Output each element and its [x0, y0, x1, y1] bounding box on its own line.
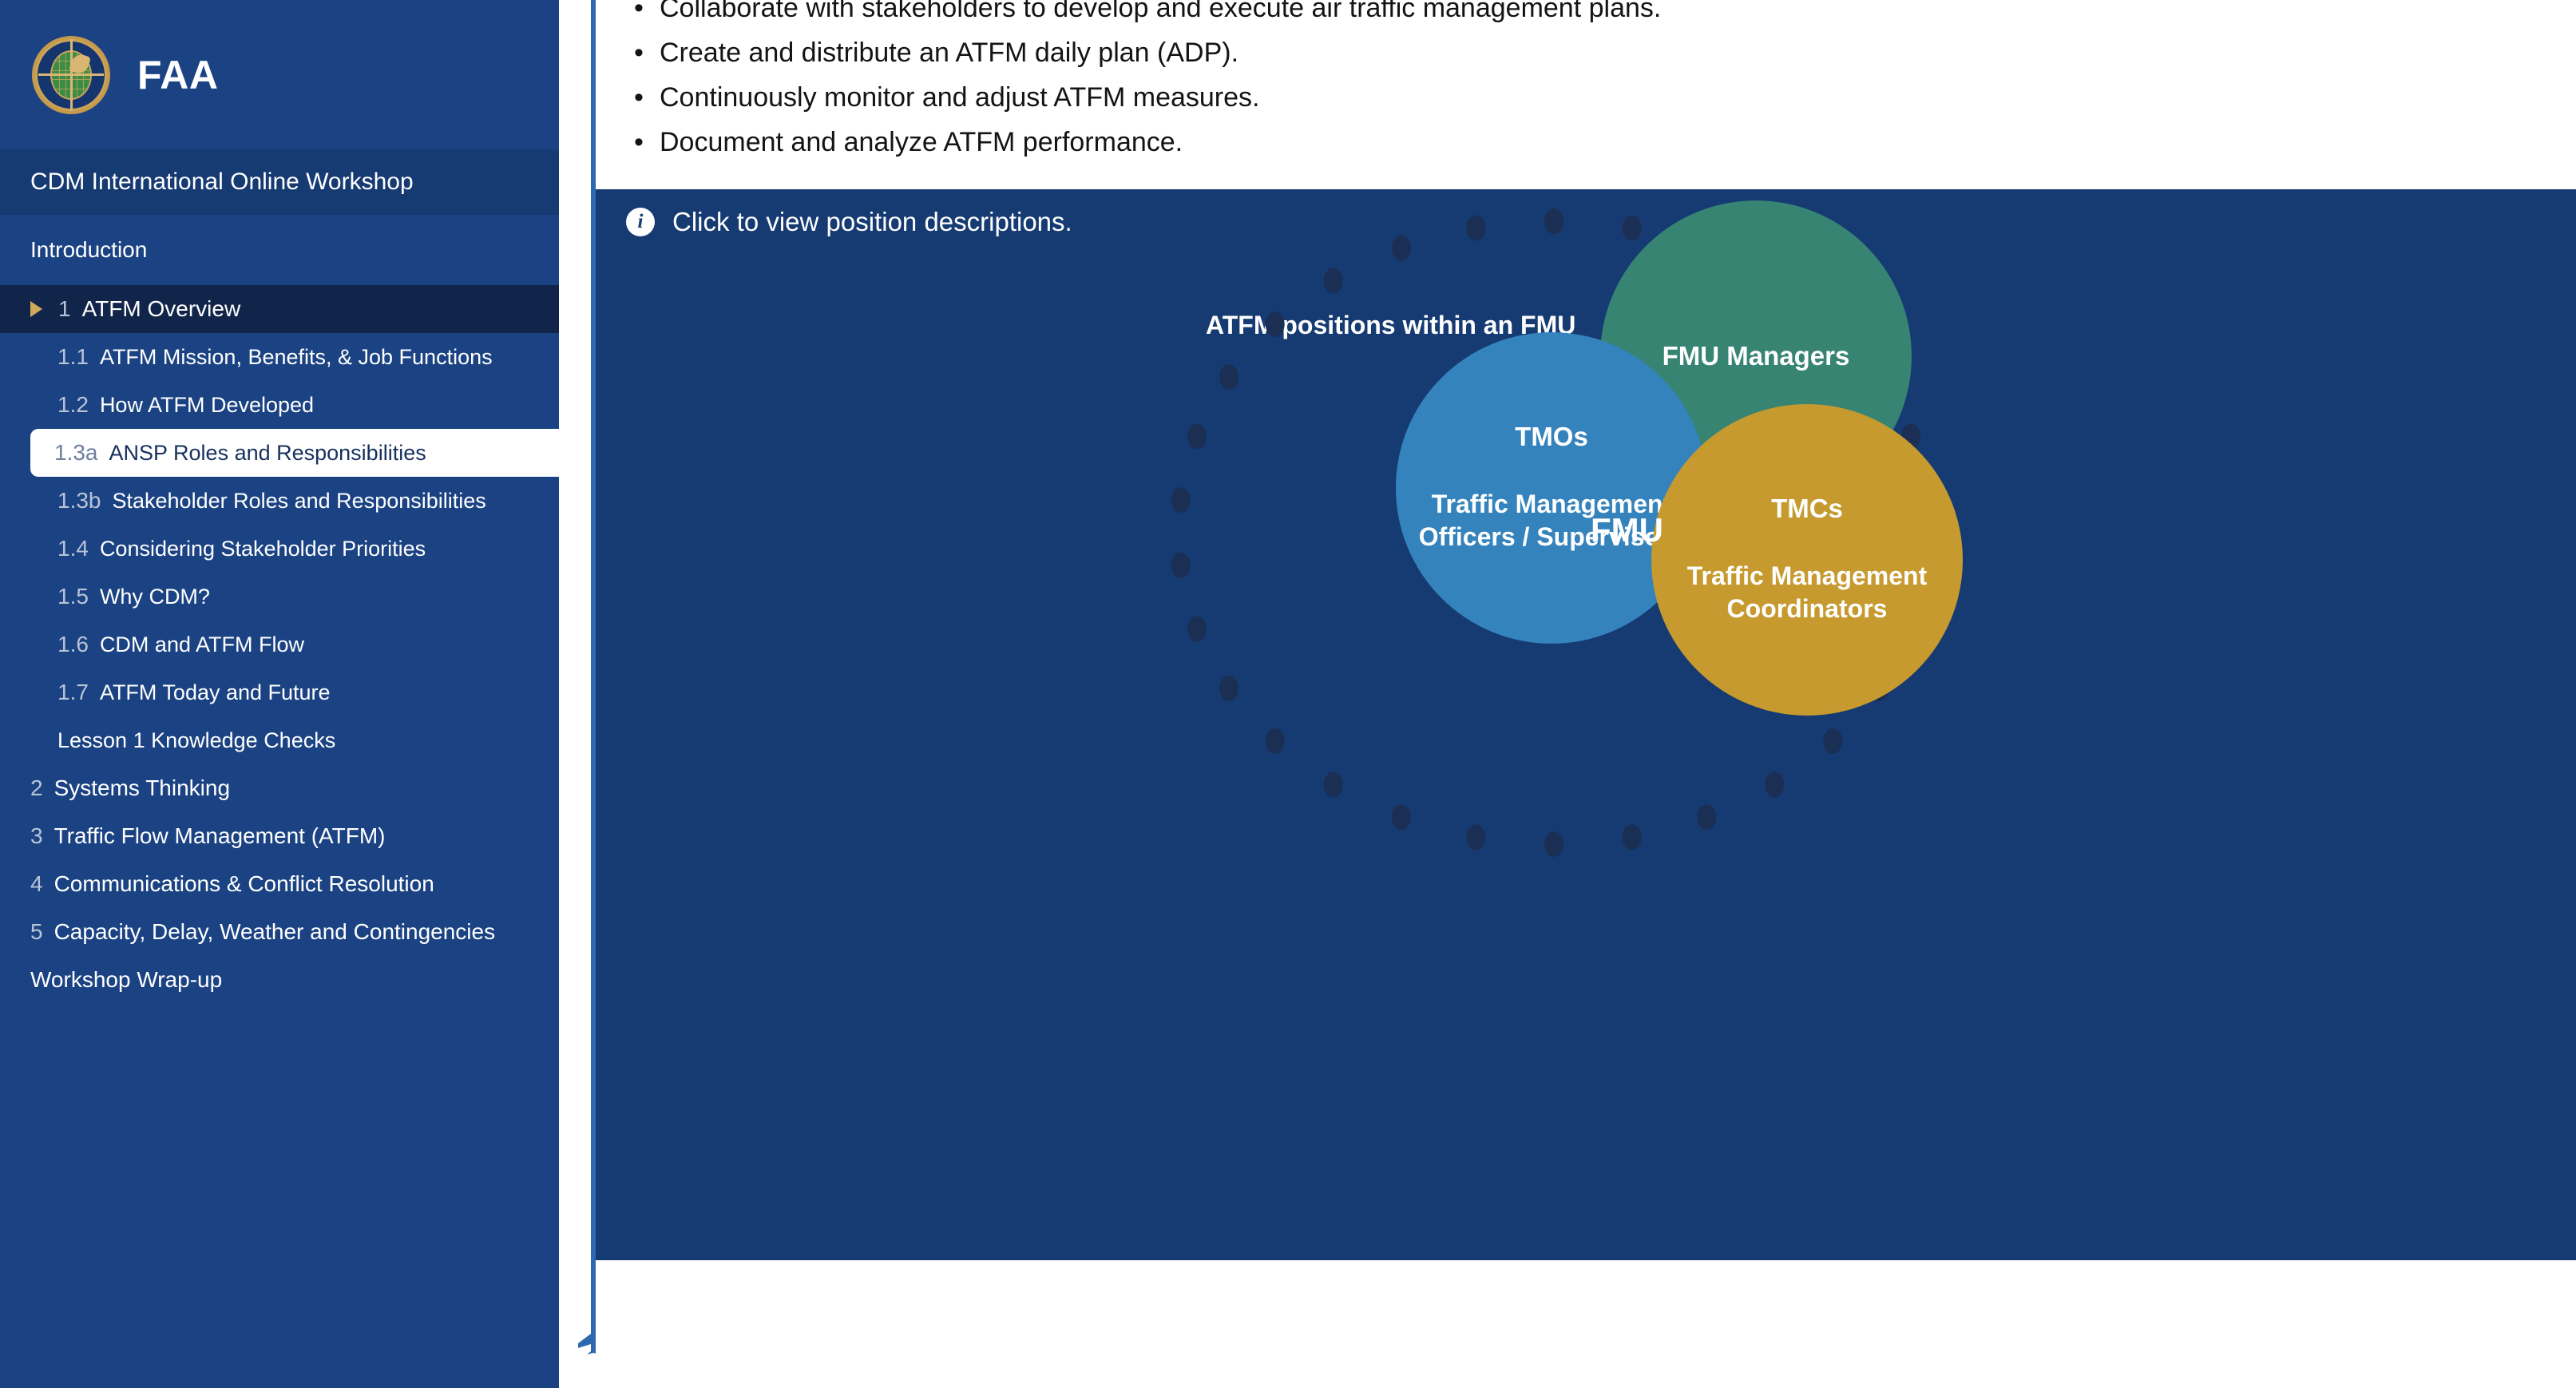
ring-dot [1392, 804, 1411, 830]
ring-dot [1219, 364, 1238, 390]
sidebar-item-label: Traffic Flow Management (ATFM) [54, 823, 386, 849]
ring-dot [1266, 728, 1285, 754]
sidebar-item-label: ATFM Overview [82, 296, 241, 322]
caret-right-icon [30, 301, 42, 317]
sidebar-item-number: 1.1 [57, 344, 89, 370]
sidebar-item-why-cdm[interactable]: 1.5Why CDM? [0, 573, 559, 621]
sidebar-item-stakeholder-roles-and-responsibilities[interactable]: 1.3bStakeholder Roles and Responsibiliti… [0, 477, 559, 525]
ring-dot [1187, 617, 1207, 642]
sidebar-item-workshop-wrap-up[interactable]: Workshop Wrap-up [0, 956, 559, 1004]
sidebar-item-label: Stakeholder Roles and Responsibilities [113, 489, 486, 514]
ring-dot [1392, 236, 1411, 261]
sidebar: FAA CDM International Online Workshop In… [0, 0, 559, 1388]
sidebar-item-label: Communications & Conflict Resolution [54, 871, 434, 897]
sidebar-item-introduction[interactable]: Introduction [0, 215, 559, 285]
faa-seal-logo [32, 36, 110, 114]
ring-dot [1187, 424, 1207, 450]
course-title: CDM International Online Workshop [30, 169, 414, 196]
sidebar-item-communications-conflict-resolution[interactable]: 4Communications & Conflict Resolution [0, 860, 559, 908]
sidebar-header: FAA [0, 0, 559, 149]
bullet-item: Document and analyze ATFM performance. [626, 120, 2576, 165]
sidebar-item-number: 3 [30, 823, 43, 849]
responsibilities-bullet-list: Collaborate with stakeholders to develop… [596, 0, 2576, 165]
sidebar-item-label: Capacity, Delay, Weather and Contingenci… [54, 919, 496, 945]
sidebar-item-number: 1.4 [57, 536, 89, 561]
bubble-tmcs-full: Traffic ManagementCoordinators [1687, 560, 1928, 625]
bullet-item: Collaborate with stakeholders to develop… [626, 0, 2576, 30]
bubble-tmcs-abbr: TMCs [1771, 494, 1843, 523]
ring-dot [1697, 804, 1716, 830]
sidebar-item-number: 1.3a [54, 440, 98, 466]
sidebar-item-systems-thinking[interactable]: 2Systems Thinking [0, 764, 559, 812]
bullet-item: Create and distribute an ATFM daily plan… [626, 30, 2576, 75]
ring-dot [1623, 825, 1642, 851]
main-content: Collaborate with stakeholders to develop… [596, 0, 2576, 1388]
sidebar-item-number: 1.5 [57, 584, 89, 609]
sidebar-item-considering-stakeholder-priorities[interactable]: 1.4Considering Stakeholder Priorities [0, 525, 559, 573]
atfm-positions-diagram-panel: i Click to view position descriptions. A… [596, 189, 2576, 1260]
course-title-bar: CDM International Online Workshop [0, 149, 559, 215]
ring-dot [1219, 676, 1238, 701]
sidebar-item-label: How ATFM Developed [100, 393, 314, 418]
sidebar-item-number: 1.2 [57, 392, 89, 418]
ring-dot [1171, 487, 1191, 513]
ring-dot [1324, 772, 1343, 798]
sidebar-item-label: Lesson 1 Knowledge Checks [57, 728, 335, 753]
ring-dot [1266, 311, 1285, 337]
sidebar-item-label: Systems Thinking [54, 775, 230, 801]
sidebar-item-traffic-flow-management-atfm[interactable]: 3Traffic Flow Management (ATFM) [0, 812, 559, 860]
bubble-tmos-abbr: TMOs [1515, 422, 1588, 451]
ring-dot [1765, 772, 1784, 798]
sidebar-item-number: 1.3b [57, 488, 101, 514]
sidebar-item-label: ANSP Roles and Responsibilities [109, 441, 426, 466]
sidebar-item-number: 1.6 [57, 632, 89, 657]
ring-dot [1466, 825, 1485, 851]
sidebar-item-cdm-and-atfm-flow[interactable]: 1.6CDM and ATFM Flow [0, 621, 559, 668]
sidebar-item-number: 2 [30, 775, 43, 801]
sidebar-item-how-atfm-developed[interactable]: 1.2How ATFM Developed [0, 381, 559, 429]
sidebar-item-label: Introduction [30, 237, 147, 263]
sidebar-item-label: ATFM Mission, Benefits, & Job Functions [100, 345, 493, 370]
ring-dot [1544, 208, 1563, 234]
fmu-center-label: FMU [1591, 511, 1663, 549]
sidebar-item-label: CDM and ATFM Flow [100, 633, 304, 657]
ring-dot [1324, 268, 1343, 294]
sidebar-item-label: Considering Stakeholder Priorities [100, 537, 426, 561]
ring-dot [1544, 831, 1563, 857]
sidebar-item-atfm-mission-benefits-job-functions[interactable]: 1.1ATFM Mission, Benefits, & Job Functio… [0, 333, 559, 381]
sidebar-item-atfm-overview[interactable]: 1ATFM Overview [0, 285, 559, 333]
sidebar-item-number: 5 [30, 919, 43, 945]
bubble-fmu-managers-label: FMU Managers [1663, 342, 1850, 371]
sidebar-item-label: Why CDM? [100, 585, 210, 609]
course-outline-nav[interactable]: Introduction1ATFM Overview1.1ATFM Missio… [0, 215, 559, 1004]
sidebar-item-number: 4 [30, 871, 43, 897]
sidebar-item-number: 1.7 [57, 680, 89, 705]
faa-wordmark: FAA [137, 52, 219, 98]
sidebar-item-ansp-roles-and-responsibilities[interactable]: 1.3aANSP Roles and Responsibilities [30, 429, 559, 477]
ring-dot [1623, 216, 1642, 241]
sidebar-item-label: Workshop Wrap-up [30, 967, 222, 993]
ring-dot [1823, 728, 1842, 754]
sidebar-item-lesson-1-knowledge-checks[interactable]: Lesson 1 Knowledge Checks [0, 716, 559, 764]
bubble-tmcs[interactable]: TMCs Traffic ManagementCoordinators [1651, 404, 1963, 716]
sidebar-item-label: ATFM Today and Future [100, 680, 331, 705]
sidebar-item-atfm-today-and-future[interactable]: 1.7ATFM Today and Future [0, 668, 559, 716]
bullet-item: Continuously monitor and adjust ATFM mea… [626, 75, 2576, 120]
ring-dot [1171, 553, 1191, 578]
ring-dot [1466, 216, 1485, 241]
sidebar-item-number: 1 [58, 296, 71, 322]
sidebar-item-capacity-delay-weather-and-contingencies[interactable]: 5Capacity, Delay, Weather and Contingenc… [0, 908, 559, 956]
